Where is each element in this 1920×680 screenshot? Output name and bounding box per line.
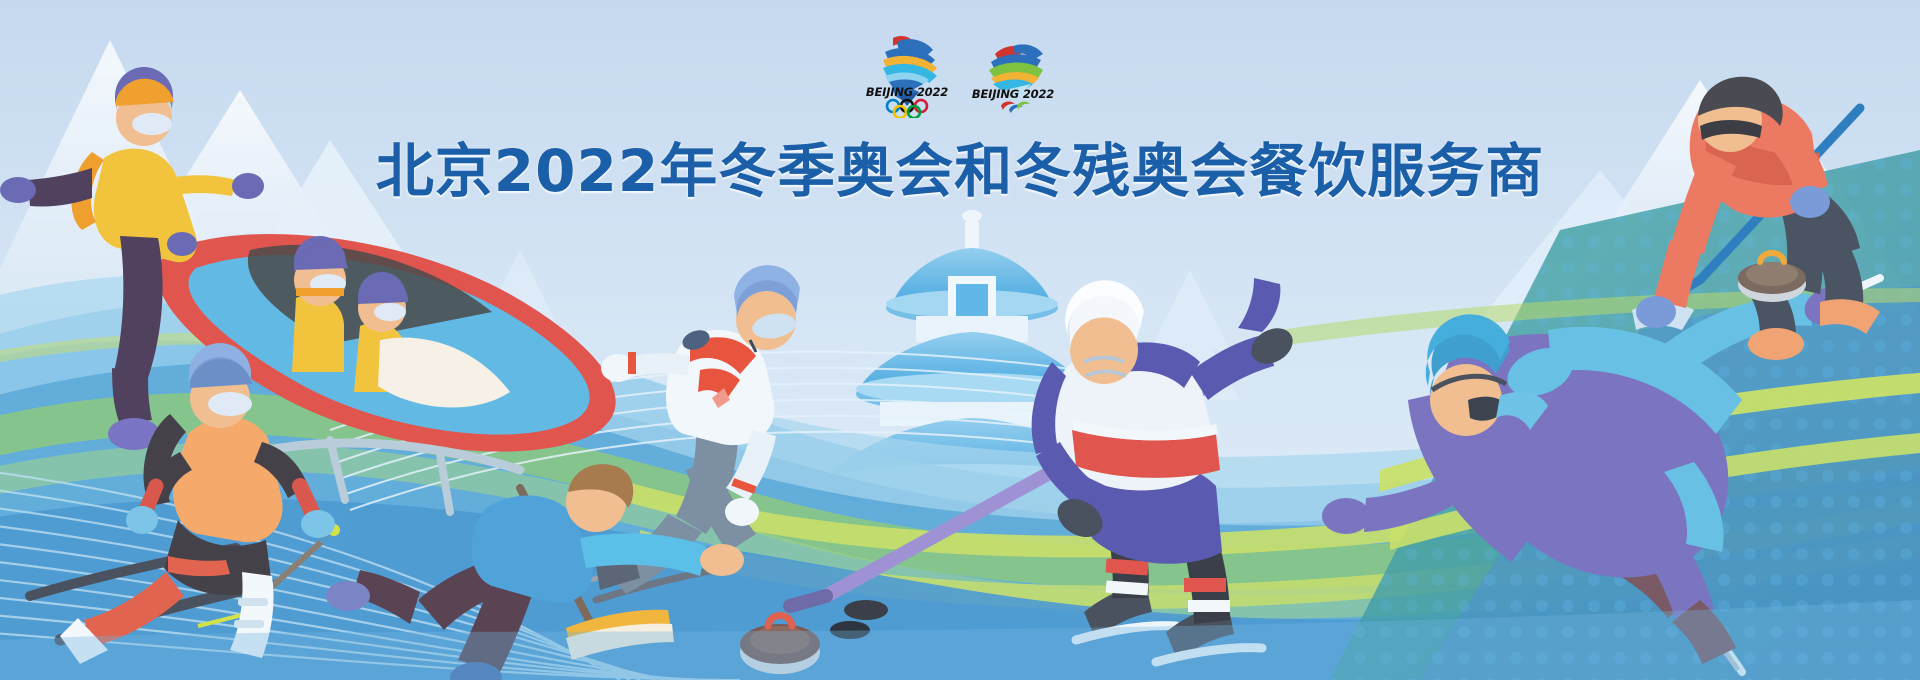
- agitos-icon: [1001, 102, 1030, 113]
- emblem-row: BEIJING 2022: [0, 26, 1920, 118]
- olympic-wordmark: BEIJING 2022: [866, 85, 948, 99]
- beijing-2022-paralympic-emblem: BEIJING 2022: [969, 26, 1057, 118]
- beijing-2022-olympic-emblem: BEIJING 2022: [863, 26, 951, 118]
- paralympic-wordmark: BEIJING 2022: [972, 87, 1054, 101]
- olympic-banner: BEIJING 2022: [0, 0, 1920, 680]
- page-title: 北京2022年冬季奥会和冬残奥会餐饮服务商: [0, 124, 1920, 208]
